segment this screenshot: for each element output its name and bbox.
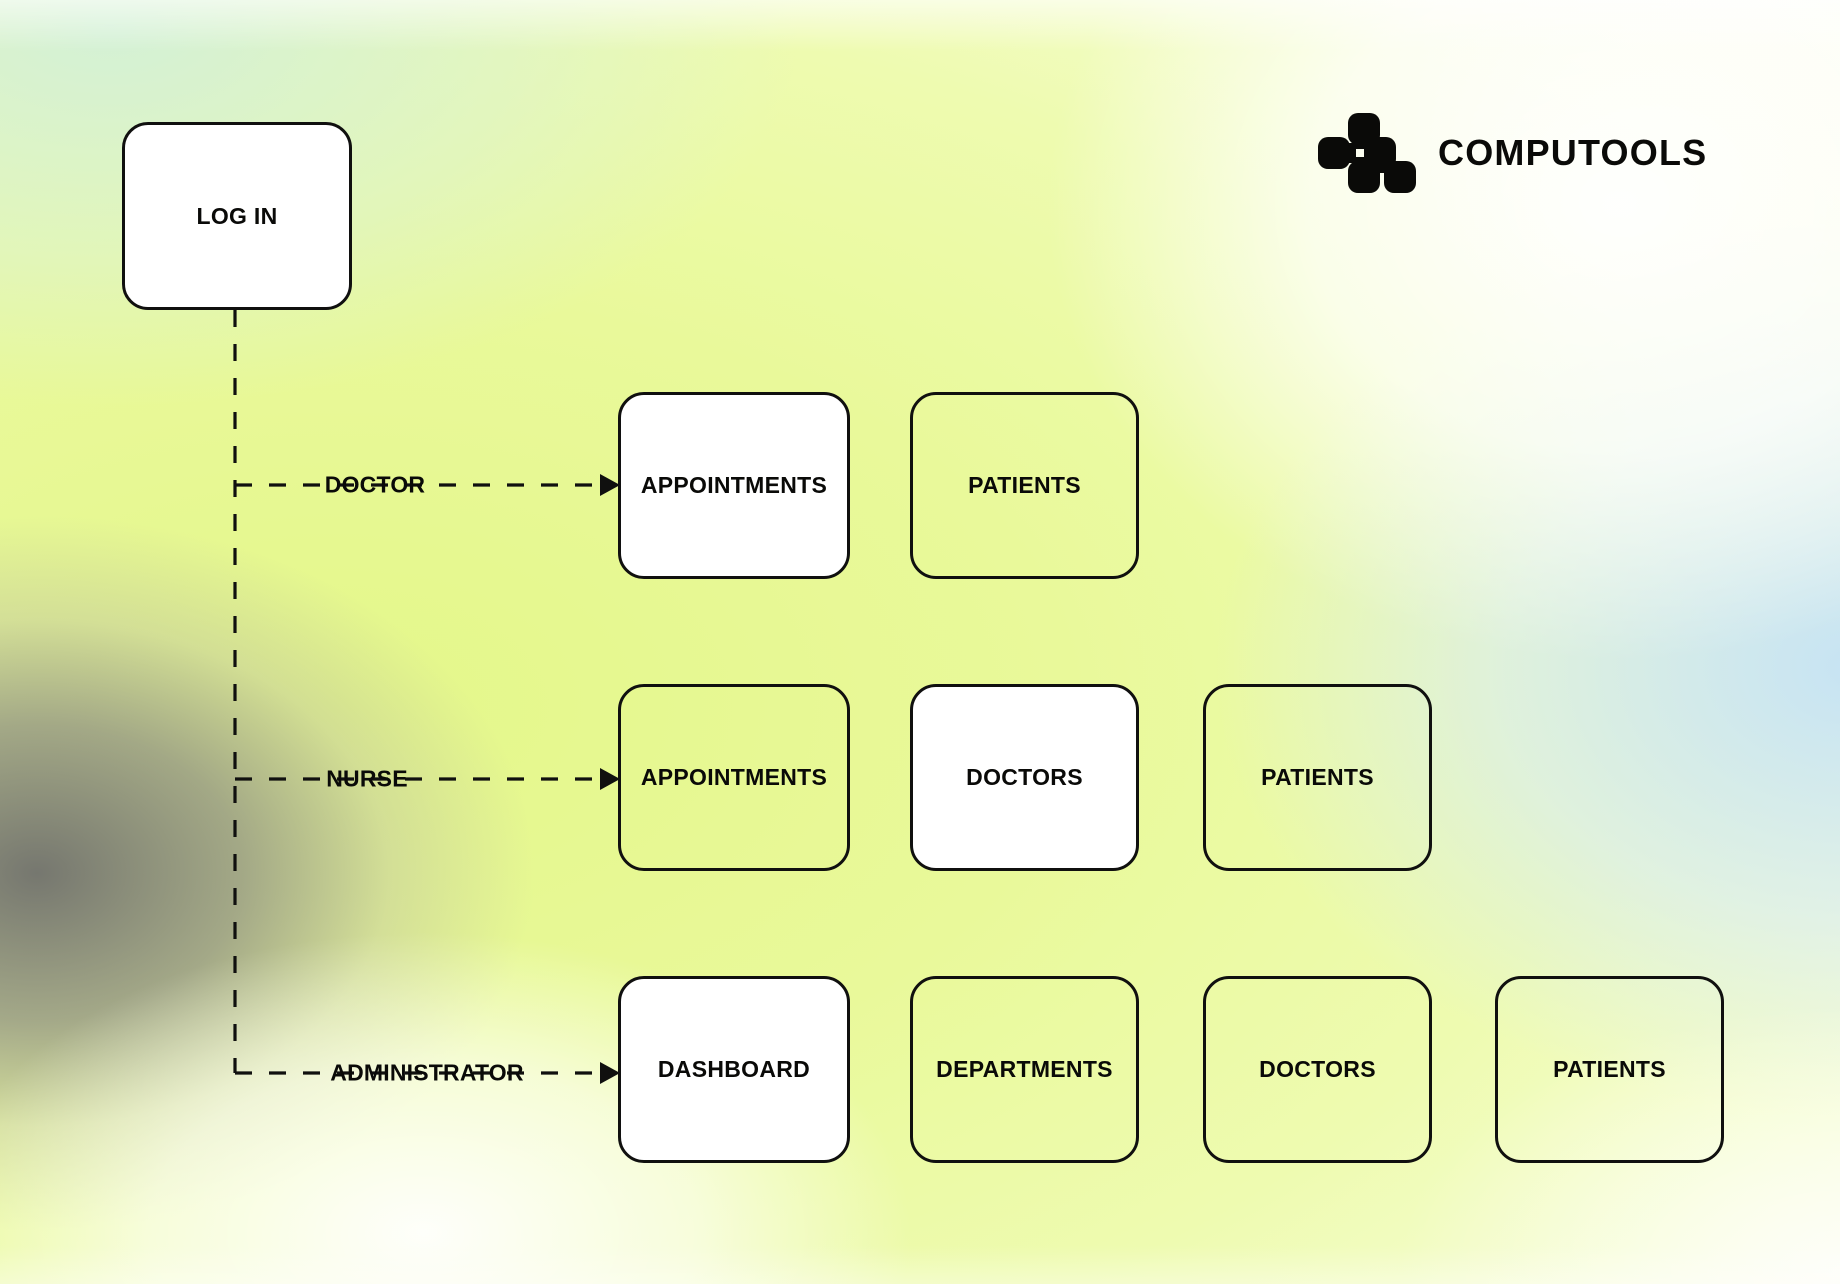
node-nurse-doctors-label: DOCTORS: [966, 764, 1083, 790]
node-admin-dashboard-label: DASHBOARD: [658, 1056, 810, 1082]
node-admin-dashboard[interactable]: DASHBOARD: [618, 976, 850, 1163]
node-doctor-patients[interactable]: PATIENTS: [910, 392, 1139, 579]
branch-label-administrator: ADMINISTRATOR: [327, 1060, 526, 1087]
arrowhead-administrator: [600, 1062, 620, 1084]
node-nurse-patients-label: PATIENTS: [1261, 764, 1374, 790]
node-doctor-appointments-label: APPOINTMENTS: [641, 472, 827, 498]
node-admin-patients[interactable]: PATIENTS: [1495, 976, 1724, 1163]
node-nurse-appointments[interactable]: APPOINTMENTS: [618, 684, 850, 871]
arrowhead-doctor: [600, 474, 620, 496]
node-admin-doctors-label: DOCTORS: [1259, 1056, 1376, 1082]
node-log-in-label: LOG IN: [196, 203, 277, 229]
node-admin-doctors[interactable]: DOCTORS: [1203, 976, 1432, 1163]
node-nurse-appointments-label: APPOINTMENTS: [641, 764, 827, 790]
node-doctor-appointments[interactable]: APPOINTMENTS: [618, 392, 850, 579]
node-admin-patients-label: PATIENTS: [1553, 1056, 1666, 1082]
brand-name: COMPUTOOLS: [1438, 132, 1707, 174]
branch-label-doctor: DOCTOR: [322, 472, 428, 499]
node-nurse-patients[interactable]: PATIENTS: [1203, 684, 1432, 871]
brand-lockup: COMPUTOOLS: [1318, 113, 1707, 193]
computools-blocks-icon: [1318, 113, 1416, 193]
diagram-canvas: DOCTOR NURSE ADMINISTRATOR LOG IN APPOIN…: [0, 0, 1840, 1284]
node-admin-departments[interactable]: DEPARTMENTS: [910, 976, 1139, 1163]
node-nurse-doctors[interactable]: DOCTORS: [910, 684, 1139, 871]
node-log-in[interactable]: LOG IN: [122, 122, 352, 310]
arrowhead-nurse: [600, 768, 620, 790]
node-doctor-patients-label: PATIENTS: [968, 472, 1081, 498]
node-admin-departments-label: DEPARTMENTS: [936, 1056, 1113, 1082]
branch-label-nurse: NURSE: [323, 766, 411, 793]
